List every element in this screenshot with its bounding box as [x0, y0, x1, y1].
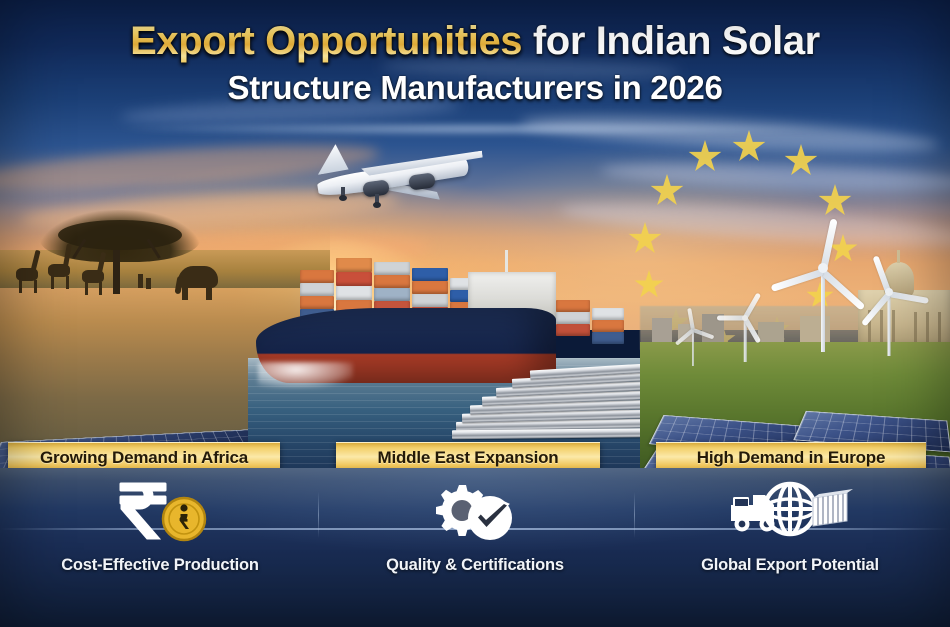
poster-infographic: Growing Demand in Africa Middle East Exp…	[0, 0, 950, 627]
gear-checkmark-icon	[419, 478, 531, 544]
title-underglow	[120, 122, 830, 136]
title-line-2: Structure Manufacturers in 2026	[0, 68, 950, 108]
wind-turbine-tiny	[668, 318, 718, 368]
title-gold-part: Export Opportunities	[130, 19, 522, 63]
feature-label-quality-certifications: Quality & Certifications	[386, 556, 564, 575]
banner-africa-label: Growing Demand in Africa	[40, 448, 248, 468]
feature-divider-left	[318, 492, 319, 538]
wind-turbine-medium	[846, 274, 932, 358]
rupee-coin-icon	[104, 478, 216, 544]
cargo-airplane	[305, 137, 485, 227]
feature-quality-certifications[interactable]: Quality & Certifications	[325, 478, 625, 575]
feature-divider-right	[634, 492, 635, 538]
banner-europe-label: High Demand in Europe	[697, 448, 885, 468]
feature-cost-effective-production[interactable]: Cost-Effective Production	[10, 478, 310, 575]
title-line-1: Export Opportunities for Indian Solar	[0, 18, 950, 64]
ship-bow-wave	[258, 362, 353, 388]
title-white-part: for Indian Solar	[522, 19, 820, 63]
page-title: Export Opportunities for Indian Solar St…	[0, 18, 950, 108]
truck-globe-container-icon	[725, 478, 855, 544]
feature-label-cost-effective-production: Cost-Effective Production	[61, 556, 259, 575]
wind-turbine-small	[714, 304, 776, 366]
banner-middle-east-label: Middle East Expansion	[378, 448, 559, 468]
feature-global-export-potential[interactable]: Global Export Potential	[640, 478, 940, 575]
feature-label-global-export-potential: Global Export Potential	[701, 556, 879, 575]
